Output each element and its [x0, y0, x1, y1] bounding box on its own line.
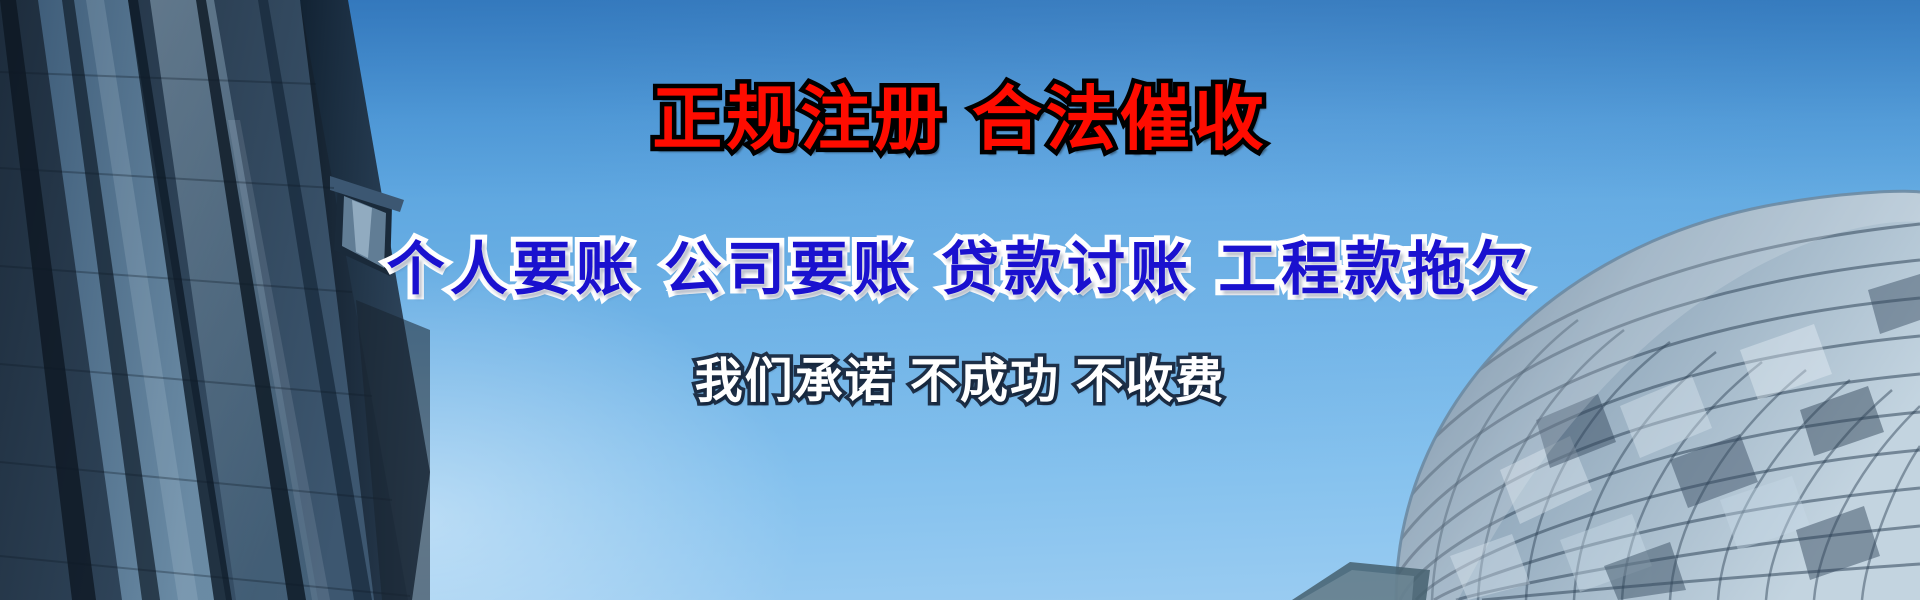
promo-banner: 正规注册 合法催收 个人要账 公司要账 贷款讨账 工程款拖欠 我们承诺 不成功 … [0, 0, 1920, 600]
headline-text: 正规注册 合法催收 [0, 84, 1920, 154]
promise-text: 我们承诺 不成功 不收费 [0, 358, 1920, 406]
banner-text-block: 正规注册 合法催收 个人要账 公司要账 贷款讨账 工程款拖欠 我们承诺 不成功 … [0, 0, 1920, 600]
services-text: 个人要账 公司要账 贷款讨账 工程款拖欠 [0, 240, 1920, 298]
